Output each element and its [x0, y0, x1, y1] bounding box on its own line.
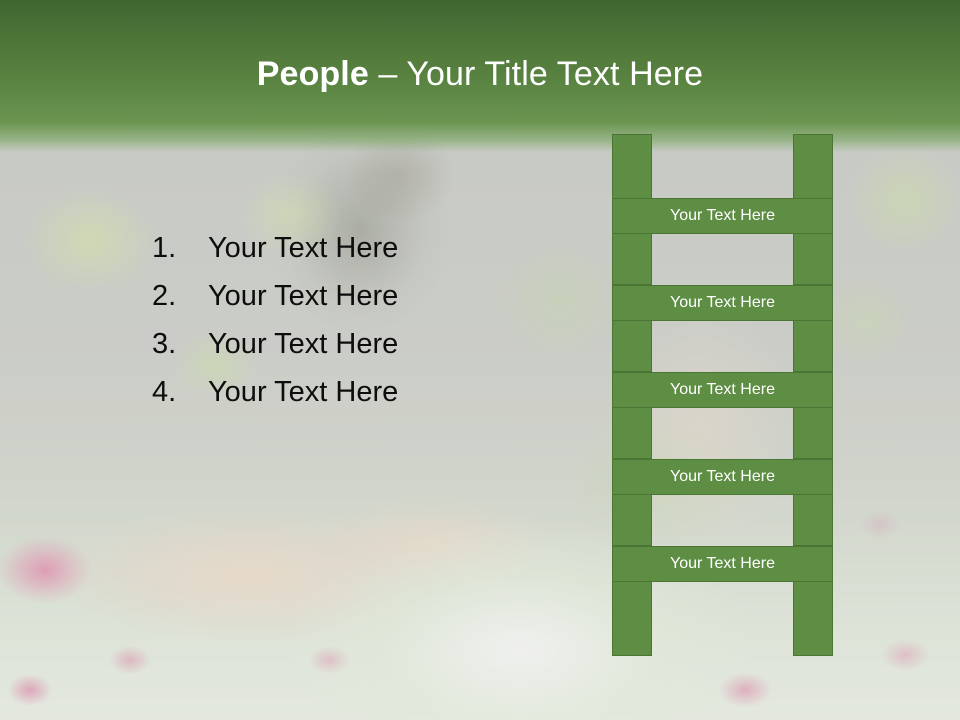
ladder-rung-3[interactable]: Your Text Here — [612, 372, 833, 408]
numbered-list: 1. Your Text Here 2. Your Text Here 3. Y… — [152, 232, 532, 424]
list-item[interactable]: 3. Your Text Here — [152, 328, 532, 376]
ladder-rail-right-segment — [793, 407, 833, 459]
ladder-rail-left-segment — [612, 494, 652, 546]
ladder-diagram: Your Text Here Your Text Here Your Text … — [612, 134, 833, 656]
ladder-rung-5-label: Your Text Here — [670, 555, 775, 572]
presentation-slide: People – Your Title Text Here 1. Your Te… — [0, 0, 960, 720]
ladder-rail-right-segment — [793, 134, 833, 200]
ladder-rung-4-label: Your Text Here — [670, 468, 775, 485]
ladder-rung-4[interactable]: Your Text Here — [612, 459, 833, 495]
list-item-label: Your Text Here — [208, 376, 532, 409]
list-item[interactable]: 1. Your Text Here — [152, 232, 532, 280]
ladder-rail-right-segment — [793, 494, 833, 546]
ladder-rail-left-segment — [612, 233, 652, 285]
ladder-rung-1-label: Your Text Here — [670, 207, 775, 224]
list-item-number: 1. — [152, 232, 208, 265]
ladder-rail-right-segment — [793, 320, 833, 372]
list-item-label: Your Text Here — [208, 232, 532, 265]
list-item[interactable]: 4. Your Text Here — [152, 376, 532, 424]
page-title-rest: – Your Title Text Here — [369, 55, 703, 93]
list-item[interactable]: 2. Your Text Here — [152, 280, 532, 328]
page-title-strong: People — [257, 55, 369, 93]
ladder-rail-right-segment — [793, 581, 833, 656]
list-item-label: Your Text Here — [208, 328, 532, 361]
page-title: People – Your Title Text Here — [0, 52, 960, 96]
list-item-number: 2. — [152, 280, 208, 313]
ladder-rung-2-label: Your Text Here — [670, 294, 775, 311]
ladder-rail-left-segment — [612, 320, 652, 372]
ladder-rung-3-label: Your Text Here — [670, 381, 775, 398]
list-item-label: Your Text Here — [208, 280, 532, 313]
ladder-rung-5[interactable]: Your Text Here — [612, 546, 833, 582]
ladder-rail-right-segment — [793, 233, 833, 285]
ladder-rail-left-segment — [612, 134, 652, 200]
ladder-rail-left-segment — [612, 581, 652, 656]
list-item-number: 4. — [152, 376, 208, 409]
ladder-rung-2[interactable]: Your Text Here — [612, 285, 833, 321]
ladder-rung-1[interactable]: Your Text Here — [612, 198, 833, 234]
ladder-rail-left-segment — [612, 407, 652, 459]
list-item-number: 3. — [152, 328, 208, 361]
